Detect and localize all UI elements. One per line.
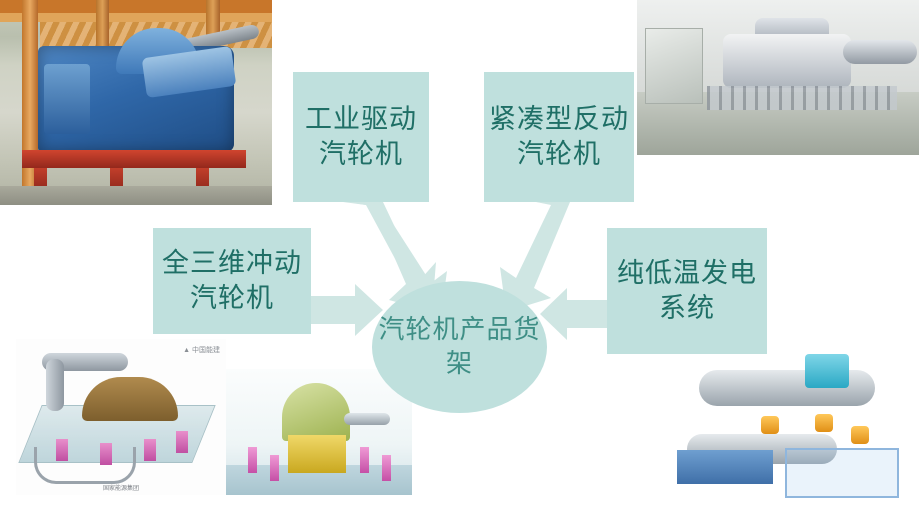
node-impulse-label: 全三维冲动汽轮机: [153, 246, 311, 315]
node-lowtemp-label: 纯低温发电系统: [607, 256, 767, 325]
photo-bottom-left: ▲ 中国能建 国家能源集团: [16, 339, 226, 495]
node-3d-impulse-turbine[interactable]: 全三维冲动汽轮机: [153, 228, 311, 334]
node-industrial-label: 工业驱动汽轮机: [293, 102, 429, 171]
arrow-lowtemp-to-center: [540, 288, 607, 340]
photo-bottom-left-caption: 国家能源集团: [16, 483, 226, 492]
slide-canvas: ▲ 中国能建 国家能源集团 工业驱动汽轮机: [0, 0, 919, 506]
node-compact-reaction-turbine[interactable]: 紧凑型反动汽轮机: [484, 72, 634, 202]
photo-bottom-left-logo: ▲ 中国能建: [183, 345, 220, 355]
photo-top-right: [637, 0, 919, 155]
photo-bottom-right: [665, 330, 919, 506]
node-center-label: 汽轮机产品货架: [372, 313, 547, 381]
node-low-temperature-power-system[interactable]: 纯低温发电系统: [607, 228, 767, 354]
photo-bottom-center: [226, 369, 412, 495]
node-turbine-product-shelf[interactable]: 汽轮机产品货架: [372, 281, 547, 413]
photo-top-left: [0, 0, 272, 205]
node-compact-label: 紧凑型反动汽轮机: [484, 102, 634, 171]
node-industrial-drive-turbine[interactable]: 工业驱动汽轮机: [293, 72, 429, 202]
